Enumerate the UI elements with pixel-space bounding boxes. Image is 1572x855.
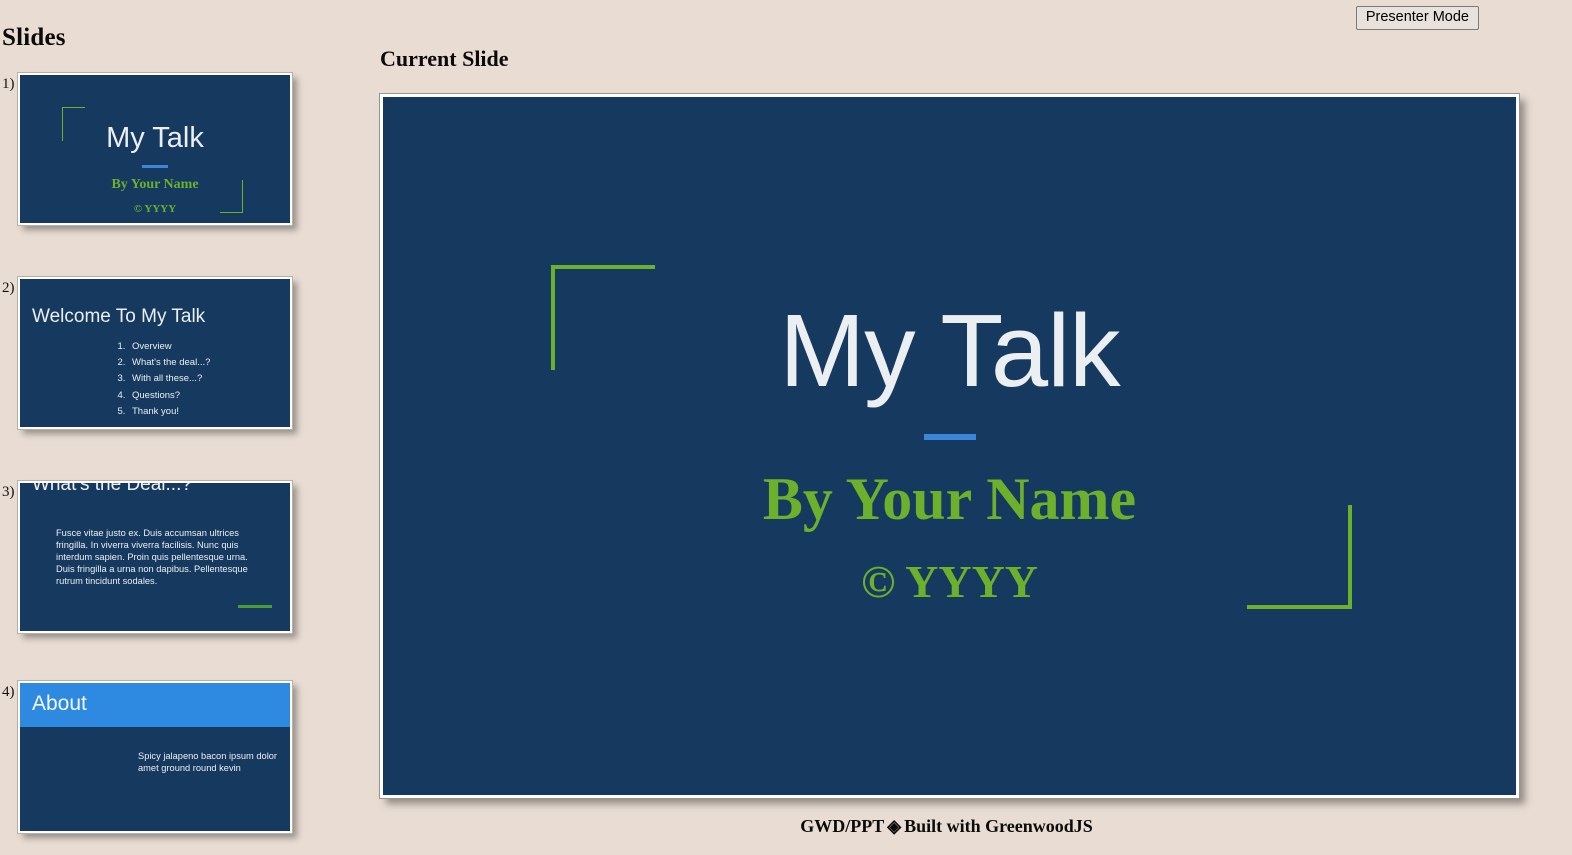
- thumbnail-3-accent-rule: [238, 605, 272, 608]
- slide-thumbnail-canvas-3[interactable]: What's the Deal...? Fusce vitae justo ex…: [18, 481, 292, 633]
- slide-thumbnail-canvas-1[interactable]: My Talk By Your Name © YYYY: [18, 73, 292, 225]
- thumbnail-3-body: Fusce vitae justo ex. Duis accumsan ultr…: [56, 527, 248, 587]
- footer-product-name: GWD/PPT: [800, 816, 884, 836]
- thumbnail-1-author: By Your Name: [20, 177, 290, 193]
- thumbnail-4-body: Spicy jalapeno bacon ipsum dolor amet gr…: [138, 750, 288, 774]
- thumbnail-1-title: My Talk: [20, 122, 290, 155]
- thumbnail-1-accent-rule: [142, 165, 168, 168]
- slide-thumbnail-index-1: 1): [2, 76, 15, 93]
- current-slide-author: By Your Name: [383, 465, 1516, 534]
- list-item: What's the deal...?: [128, 355, 210, 371]
- thumbnail-2-title: Welcome To My Talk: [32, 306, 205, 328]
- current-slide-heading: Current Slide: [380, 46, 509, 72]
- slide-thumbnail-canvas-4[interactable]: About Spicy jalapeno bacon ipsum dolor a…: [18, 681, 292, 833]
- slide-thumbnail-index-2: 2): [2, 280, 15, 297]
- current-slide-title: My Talk: [383, 295, 1516, 406]
- slide-thumbnail-3[interactable]: 3) What's the Deal...? Fusce vitae justo…: [0, 481, 300, 631]
- slide-thumbnail-4[interactable]: 4) About Spicy jalapeno bacon ipsum dolo…: [0, 681, 300, 831]
- footer: GWD/PPT◈Built with GreenwoodJS: [380, 816, 1513, 837]
- thumbnail-1-copyright: © YYYY: [20, 203, 290, 215]
- slide-thumbnail-canvas-2[interactable]: Welcome To My Talk Overview What's the d…: [18, 277, 292, 429]
- thumbnail-3-title: What's the Deal...?: [32, 481, 192, 496]
- current-slide-stage[interactable]: My Talk By Your Name © YYYY: [380, 94, 1519, 798]
- current-slide-accent-rule: [924, 434, 976, 440]
- presenter-mode-button[interactable]: Presenter Mode: [1356, 6, 1479, 30]
- slide-thumbnail-2[interactable]: 2) Welcome To My Talk Overview What's th…: [0, 277, 300, 427]
- list-item: Questions?: [128, 388, 210, 404]
- current-slide-copyright: © YYYY: [383, 555, 1516, 608]
- diamond-icon: ◈: [884, 816, 904, 836]
- slides-heading: Slides: [2, 24, 66, 52]
- thumbnail-4-title: About: [32, 692, 87, 716]
- slides-sidebar: Slides 1) My Talk By Your Name © YYYY 2)…: [0, 0, 370, 855]
- list-item: With all these...?: [128, 371, 210, 387]
- thumbnail-2-agenda-list: Overview What's the deal...? With all th…: [110, 339, 210, 420]
- slide-thumbnail-1[interactable]: 1) My Talk By Your Name © YYYY: [0, 73, 300, 223]
- footer-credit: Built with GreenwoodJS: [904, 816, 1093, 836]
- list-item: Thank you!: [128, 404, 210, 420]
- slide-thumbnail-index-4: 4): [2, 684, 15, 701]
- slide-thumbnail-index-3: 3): [2, 484, 15, 501]
- list-item: Overview: [128, 339, 210, 355]
